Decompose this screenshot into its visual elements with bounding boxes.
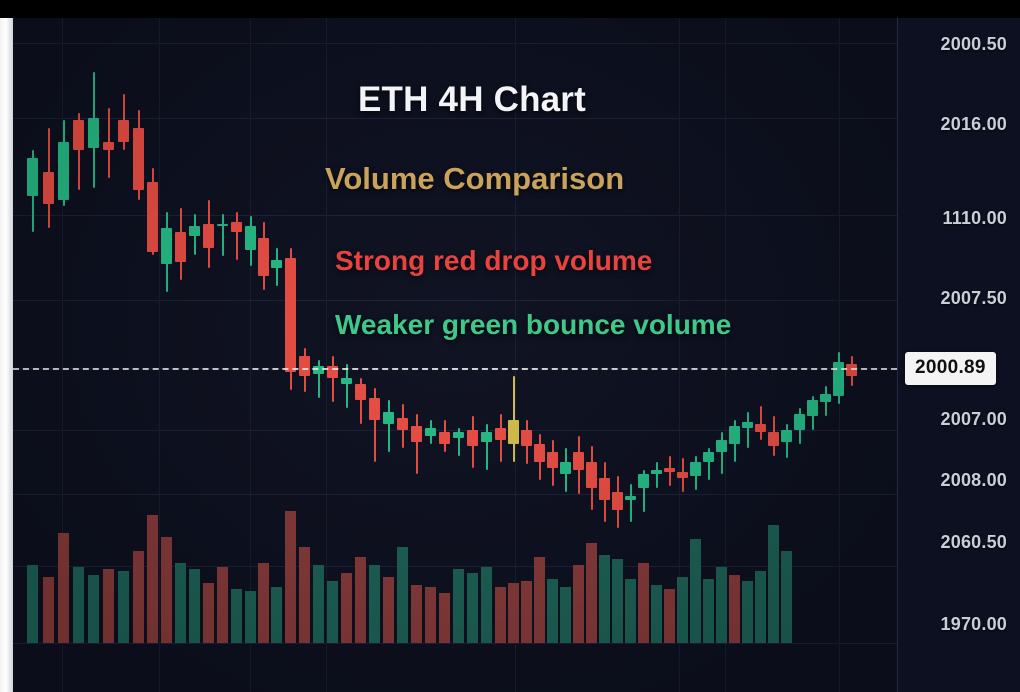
candle-body — [258, 238, 269, 276]
candle-wick — [332, 356, 334, 402]
candlestick — [103, 18, 114, 692]
candlestick — [27, 18, 38, 692]
candle-wick — [513, 376, 515, 462]
candlestick — [133, 18, 144, 692]
candlestick — [664, 18, 675, 692]
price-axis-label: 1110.00 — [943, 208, 1007, 229]
candlestick — [768, 18, 779, 692]
gridline-v-1 — [159, 18, 160, 692]
candle-wick — [416, 414, 418, 474]
candlestick — [794, 18, 805, 692]
candle-body — [231, 222, 242, 232]
candlestick — [313, 18, 324, 692]
candlestick — [341, 18, 352, 692]
candle-wick — [760, 406, 762, 440]
candlestick — [43, 18, 54, 692]
candlestick — [781, 18, 792, 692]
candle-wick — [222, 214, 224, 256]
price-axis-label: 2016.00 — [941, 114, 1007, 135]
candle-body — [521, 430, 532, 446]
chart-overlay-subtitle: Volume Comparison — [325, 161, 624, 197]
candlestick — [285, 18, 296, 692]
candle-body — [599, 478, 610, 500]
candle-body — [534, 444, 545, 462]
price-axis-label: 2060.50 — [941, 532, 1007, 553]
candle-wick — [630, 484, 632, 522]
candle-body — [217, 224, 228, 226]
candlestick — [118, 18, 129, 692]
candle-body — [147, 182, 158, 252]
candle-body — [729, 426, 740, 444]
candle-body — [271, 260, 282, 268]
candle-body — [161, 228, 172, 264]
candlestick — [245, 18, 256, 692]
candle-body — [189, 226, 200, 236]
candle-body — [573, 452, 584, 470]
candle-body — [612, 492, 623, 510]
candle-body — [625, 496, 636, 500]
candlestick — [742, 18, 753, 692]
candle-body — [820, 394, 831, 402]
candlestick — [599, 18, 610, 692]
candlestick — [651, 18, 662, 692]
chart-overlay-title: ETH 4H Chart — [358, 80, 586, 120]
candle-body — [299, 356, 310, 376]
candle-body — [846, 364, 857, 376]
price-axis-label: 2000.50 — [941, 34, 1007, 55]
candlestick — [703, 18, 714, 692]
candle-body — [481, 432, 492, 442]
candle-body — [439, 432, 450, 444]
candlestick — [729, 18, 740, 692]
candle-body — [651, 470, 662, 474]
candle-body — [508, 420, 519, 444]
candle-body — [175, 232, 186, 262]
candlestick — [625, 18, 636, 692]
candle-body — [495, 428, 506, 440]
candle-body — [103, 142, 114, 150]
candle-body — [547, 452, 558, 468]
candle-body — [560, 462, 571, 474]
candlestick — [833, 18, 844, 692]
candlestick — [612, 18, 623, 692]
price-axis-label: 1970.00 — [941, 614, 1007, 635]
candlestick — [677, 18, 688, 692]
candlestick — [88, 18, 99, 692]
candle-body — [88, 118, 99, 148]
candle-body — [425, 428, 436, 436]
candlestick — [147, 18, 158, 692]
candlestick — [271, 18, 282, 692]
candlestick — [586, 18, 597, 692]
candle-body — [807, 400, 818, 416]
candlestick — [58, 18, 69, 692]
candle-body — [638, 474, 649, 488]
candlestick — [217, 18, 228, 692]
candlestick — [690, 18, 701, 692]
price-axis-label: 2008.00 — [941, 470, 1007, 491]
candle-body — [118, 120, 129, 142]
candle-body — [453, 432, 464, 438]
candlestick — [638, 18, 649, 692]
candlestick — [189, 18, 200, 692]
candle-body — [27, 158, 38, 196]
top-letterbox-bar — [0, 0, 1020, 18]
current-price-badge: 2000.89 — [905, 352, 996, 385]
candle-wick — [486, 424, 488, 470]
candle-body — [664, 468, 675, 472]
candle-body — [285, 258, 296, 372]
candle-body — [586, 462, 597, 488]
candle-body — [245, 226, 256, 250]
price-axis-label: 2007.00 — [941, 409, 1007, 430]
candle-body — [133, 128, 144, 190]
candlestick — [807, 18, 818, 692]
candlestick — [716, 18, 727, 692]
candlestick — [299, 18, 310, 692]
candle-body — [794, 414, 805, 430]
candlestick — [73, 18, 84, 692]
candle-body — [397, 418, 408, 430]
candle-body — [781, 430, 792, 442]
candle-wick — [346, 364, 348, 408]
candlestick — [175, 18, 186, 692]
candle-wick — [721, 432, 723, 474]
candlestick — [258, 18, 269, 692]
candle-body — [58, 142, 69, 200]
candle-body — [73, 120, 84, 150]
candle-body — [768, 432, 779, 446]
candlestick — [203, 18, 214, 692]
candle-wick — [747, 412, 749, 448]
screenshot-root: ETH 4H Chart Volume Comparison Strong re… — [0, 0, 1020, 692]
candle-body — [383, 412, 394, 424]
annotation-red-drop-volume: Strong red drop volume — [335, 245, 652, 277]
candlestick — [231, 18, 242, 692]
candlestick — [820, 18, 831, 692]
price-axis-label: 2007.50 — [941, 288, 1007, 309]
annotation-green-bounce-volume: Weaker green bounce volume — [335, 309, 731, 341]
candle-body — [369, 398, 380, 420]
candlestick — [846, 18, 857, 692]
candle-body — [43, 172, 54, 204]
candlestick — [161, 18, 172, 692]
candle-body — [467, 430, 478, 446]
candle-body — [355, 384, 366, 400]
candlestick — [327, 18, 338, 692]
candle-body — [677, 472, 688, 478]
candle-body — [755, 424, 766, 432]
candle-body — [411, 426, 422, 442]
candle-body — [703, 452, 714, 462]
left-edge-strip — [0, 18, 13, 692]
candle-body — [690, 462, 701, 476]
candle-body — [742, 422, 753, 428]
current-price-line — [13, 368, 897, 370]
candle-body — [341, 378, 352, 384]
candlestick-chart-panel[interactable]: ETH 4H Chart Volume Comparison Strong re… — [13, 18, 897, 692]
candle-body — [203, 224, 214, 248]
candle-body — [716, 440, 727, 452]
candle-wick — [236, 212, 238, 260]
candle-wick — [388, 400, 390, 452]
candlestick — [755, 18, 766, 692]
candle-wick — [656, 462, 658, 488]
